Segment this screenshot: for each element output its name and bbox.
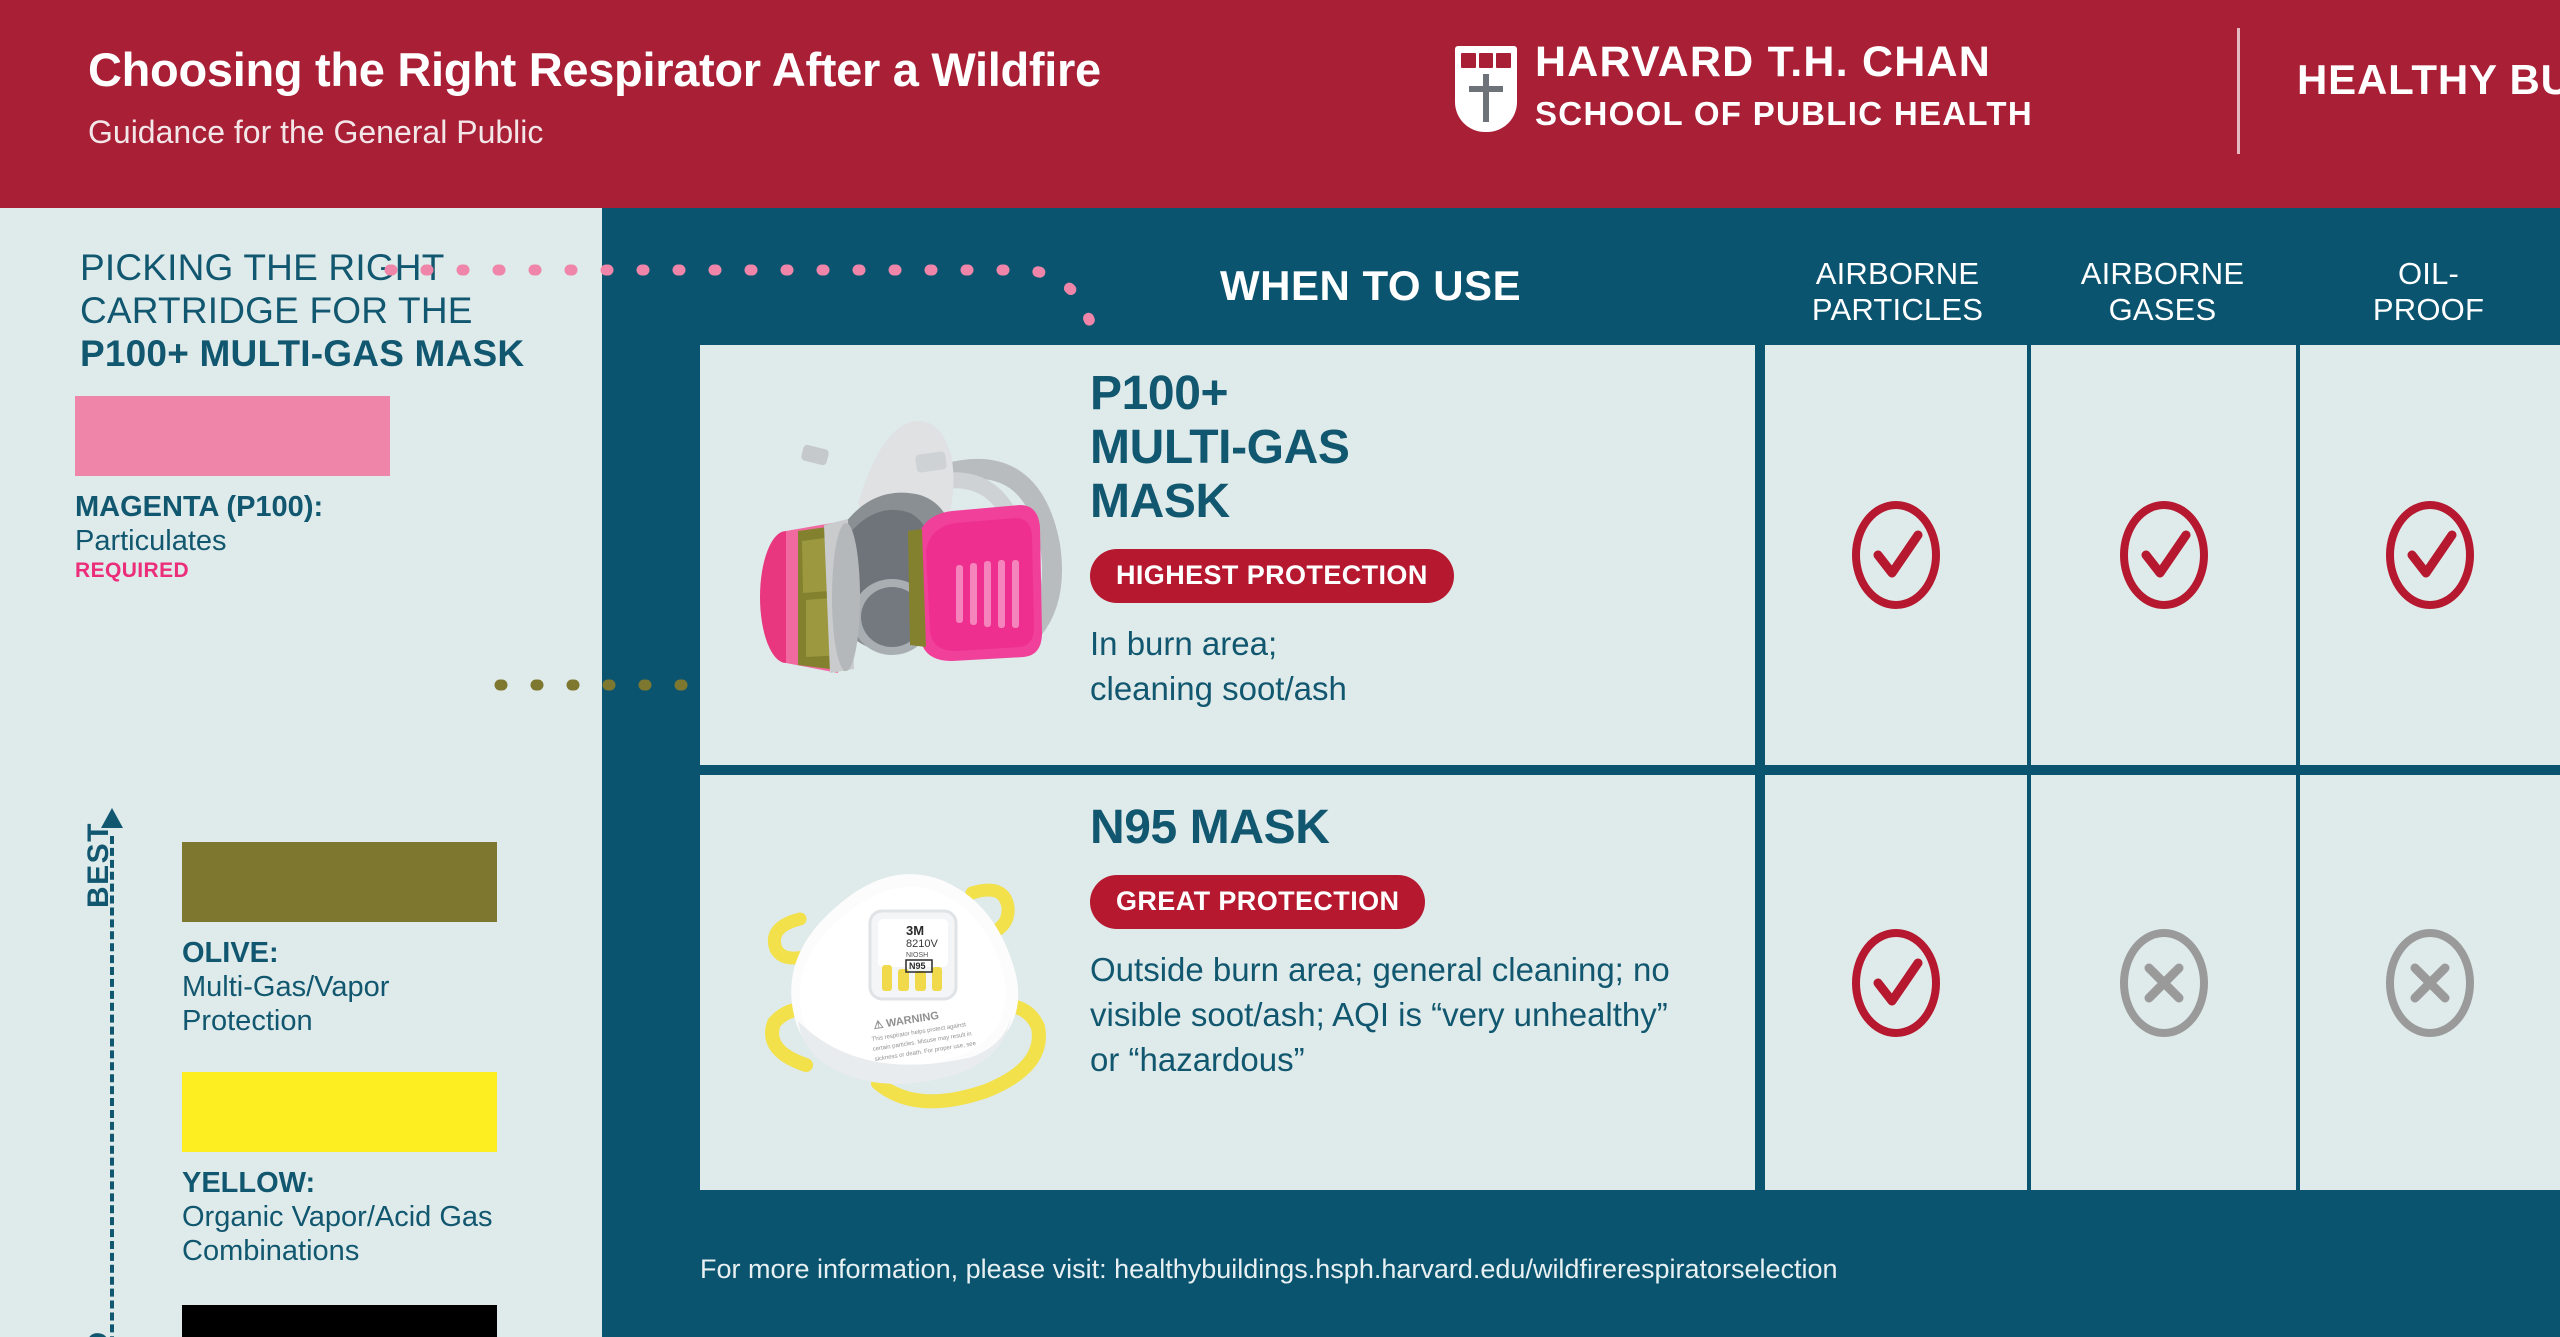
respirator-comparison-table: P100+MULTI-GASMASK HIGHEST PROTECTION In… xyxy=(700,345,2560,1190)
sidebar-heading-line-3: P100+ MULTI-GAS MASK xyxy=(80,333,524,374)
col3-line2: GASES xyxy=(2109,292,2217,327)
sidebar-heading-line-2: CARTRIDGE FOR THE xyxy=(80,290,473,331)
logo-line-1: HARVARD T.H. CHAN xyxy=(1535,38,1991,87)
cartridge-swatch-magenta xyxy=(75,396,390,476)
row1-protection-badge: HIGHEST PROTECTION xyxy=(1090,549,1454,603)
cartridge-desc-olive: Multi-Gas/Vapor Protection xyxy=(182,970,522,1038)
check-icon xyxy=(2382,497,2478,613)
row1-description: In burn area;cleaning soot/ash xyxy=(1090,621,1454,711)
cross-icon xyxy=(2116,925,2212,1041)
n95-mask-image: 3M 8210V NIOSH N95 ⚠ WARNING This respir… xyxy=(740,815,1070,1165)
logo-line-2: SCHOOL OF PUBLIC HEALTH xyxy=(1535,95,2033,133)
row2-description: Outside burn area; general cleaning; no … xyxy=(1090,947,1690,1082)
scale-label-good: GOOD xyxy=(82,1330,116,1337)
svg-text:N95: N95 xyxy=(909,961,926,971)
logo-program-name: HEALTHY BUILDINGS xyxy=(2297,56,2560,104)
cell-row2-airborne-gases xyxy=(2031,775,2296,1190)
sidebar-heading: PICKING THE RIGHT CARTRIDGE FOR THE P100… xyxy=(80,246,580,375)
cartridge-required-badge: REQUIRED xyxy=(75,558,495,584)
check-icon xyxy=(1848,497,1944,613)
cartridge-swatch-yellow xyxy=(182,1072,497,1152)
dashed-axis-line xyxy=(110,836,114,1337)
cartridge-sidebar: PICKING THE RIGHT CARTRIDGE FOR THE P100… xyxy=(0,208,602,1337)
cell-row2-oil-proof xyxy=(2300,775,2560,1190)
harvard-shield-icon xyxy=(1455,46,1517,132)
page-title: Choosing the Right Respirator After a Wi… xyxy=(88,42,1101,97)
footer-note: For more information, please visit: heal… xyxy=(700,1254,1838,1285)
check-icon xyxy=(1848,925,1944,1041)
check-icon xyxy=(2116,497,2212,613)
cartridge-desc-magenta: Particulates xyxy=(75,524,495,558)
col3-line1: AIRBORNE xyxy=(2081,256,2245,291)
cartridge-name-olive: OLIVE: xyxy=(182,936,522,970)
row2-title: N95 MASK xyxy=(1090,801,1690,855)
svg-text:8210V: 8210V xyxy=(906,938,938,950)
infographic-page: Choosing the Right Respirator After a Wi… xyxy=(0,0,2560,1337)
cartridge-desc-yellow: Organic Vapor/Acid Gas Combinations xyxy=(182,1200,542,1268)
cell-row1-oil-proof xyxy=(2300,345,2560,765)
col2-line1: AIRBORNE xyxy=(1816,256,1980,291)
logo-divider xyxy=(2237,28,2240,154)
cartridge-swatch-olive xyxy=(182,842,497,922)
col2-line2: PARTICLES xyxy=(1812,292,1983,327)
cartridge-label-yellow: YELLOW: Organic Vapor/Acid Gas Combinati… xyxy=(182,1166,542,1268)
row2-protection-badge: GREAT PROTECTION xyxy=(1090,875,1425,929)
sidebar-heading-line-1: PICKING THE RIGHT xyxy=(80,247,445,288)
cell-row2-airborne-particles xyxy=(1765,775,2027,1190)
cartridge-swatch-black xyxy=(182,1305,497,1337)
cell-row1-airborne-gases xyxy=(2031,345,2296,765)
column-header-oil-proof: OIL- PROOF xyxy=(2306,256,2551,328)
cross-icon xyxy=(2382,925,2478,1041)
svg-text:NIOSH: NIOSH xyxy=(906,952,928,959)
row1-title: P100+MULTI-GASMASK xyxy=(1090,367,1454,529)
p100-multi-gas-respirator-image xyxy=(720,355,1070,755)
cell-row1-airborne-particles xyxy=(1765,345,2027,765)
col4-line2: PROOF xyxy=(2373,292,2484,327)
table-row: P100+MULTI-GASMASK HIGHEST PROTECTION In… xyxy=(700,345,1755,765)
column-header-when-to-use: WHEN TO USE xyxy=(1220,262,1521,310)
cartridge-name-magenta: MAGENTA (P100): xyxy=(75,490,495,524)
cartridge-label-olive: OLIVE: Multi-Gas/Vapor Protection xyxy=(182,936,522,1038)
row1-content: P100+MULTI-GASMASK HIGHEST PROTECTION In… xyxy=(1090,367,1454,711)
table-row: 3M 8210V NIOSH N95 ⚠ WARNING This respir… xyxy=(700,775,1755,1190)
column-header-airborne-gases: AIRBORNE GASES xyxy=(2040,256,2285,328)
page-subtitle: Guidance for the General Public xyxy=(88,114,543,151)
row2-content: N95 MASK GREAT PROTECTION Outside burn a… xyxy=(1090,801,1690,1082)
page-header: Choosing the Right Respirator After a Wi… xyxy=(0,0,2560,208)
col4-line1: OIL- xyxy=(2398,256,2459,291)
svg-text:3M: 3M xyxy=(906,923,924,938)
column-header-airborne-particles: AIRBORNE PARTICLES xyxy=(1775,256,2020,328)
cartridge-name-yellow: YELLOW: xyxy=(182,1166,542,1200)
scale-label-best: BEST xyxy=(82,822,116,908)
cartridge-label-magenta: MAGENTA (P100): Particulates REQUIRED xyxy=(75,490,495,584)
